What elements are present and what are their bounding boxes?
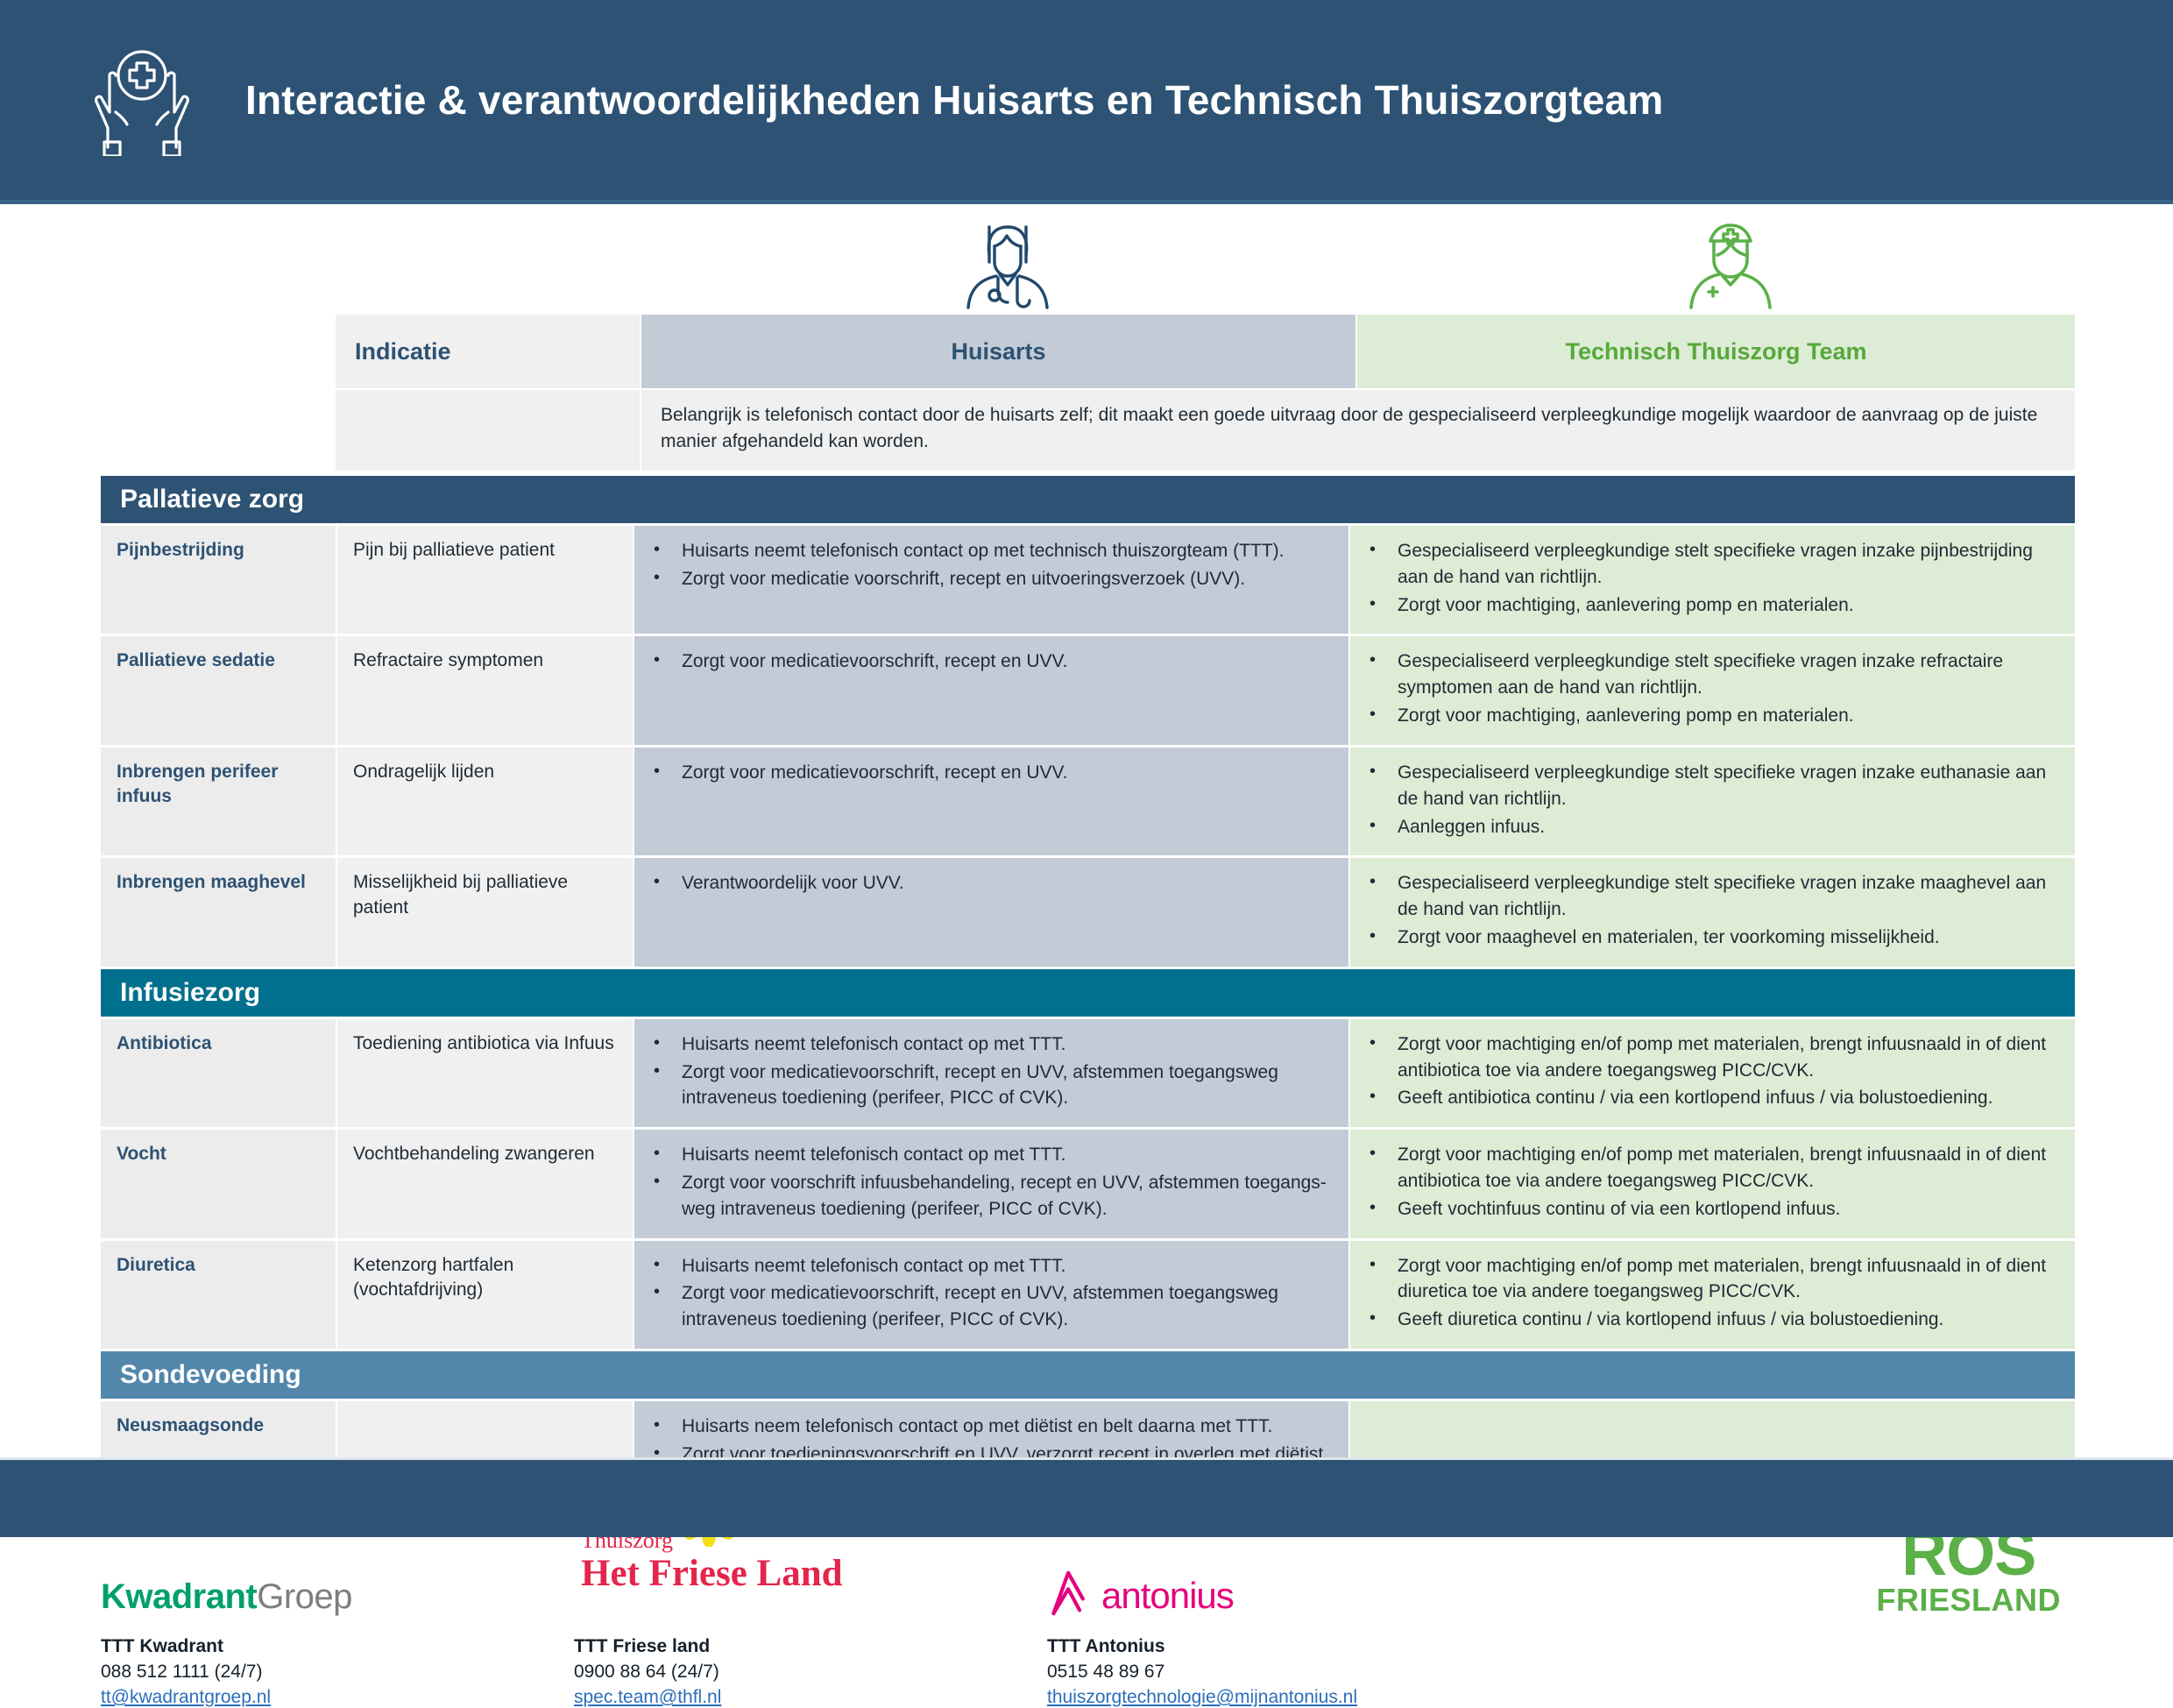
table-row: Inbrengen perifeer infuusOndragelijk lij… (101, 748, 2075, 855)
row-ttt-cell: Zorgt voor machtiging en/of pomp met mat… (1350, 1019, 2075, 1127)
row-indicatie-cell: Refractaire symptomen (337, 636, 633, 744)
bullet-list: Gespecialiseerd verpleegkundige stelt sp… (1366, 760, 2059, 840)
bullet-item: Gespecialiseerd verpleegkundige stelt sp… (1366, 760, 2059, 812)
column-header-indicatie: Indicatie (336, 315, 640, 388)
bullet-item: Geeft diuretica continu / via kortlopend… (1366, 1307, 2059, 1333)
antonius-mark-icon (1047, 1568, 1093, 1617)
bullet-list: Gespecialiseerd verpleegkundige stelt sp… (1366, 538, 2059, 618)
row-huisarts-cell: Zorgt voor medicatievoorschrift, recept … (634, 636, 1348, 744)
bullet-item: Aanleggen infuus. (1366, 814, 2059, 840)
bullet-item: Huisarts neem telefonisch contact op met… (650, 1414, 1333, 1440)
provider-email-link[interactable]: spec.team@thfl.nl (574, 1687, 721, 1708)
table-note-text: Belangrijk is telefonisch contact door d… (641, 390, 2075, 471)
table-row: Inbrengen maaghevelMisselijkheid bij pal… (101, 858, 2075, 966)
provider-name: TTT Kwadrant (101, 1636, 352, 1657)
section-header: Sondevoeding (101, 1351, 2075, 1399)
bullet-list: Gespecialiseerd verpleegkundige stelt sp… (1366, 870, 2059, 950)
row-ttt-cell: Zorgt voor machtiging en/of pomp met mat… (1350, 1130, 2075, 1237)
provider-name: TTT Friese land (574, 1636, 863, 1657)
column-header-huisarts-label: Huisarts (951, 338, 1045, 365)
bullet-item: Zorgt voor machtiging, aanlevering pomp … (1366, 703, 2059, 729)
page-title: Interactie & verantwoordelijkheden Huisa… (245, 77, 1663, 124)
row-indicatie-cell: Vochtbehandeling zwangeren (337, 1130, 633, 1237)
bullet-item: Gespecialiseerd verpleegkundige stelt sp… (1366, 538, 2059, 591)
bullet-item: Zorgt voor voorschrift infuusbehandeling… (650, 1170, 1333, 1223)
provider-antonius: antonius TTT Antonius 0515 48 89 67 thui… (1047, 1533, 1357, 1708)
bullet-item: Gespecialiseerd verpleegkundige stelt sp… (1366, 870, 2059, 923)
hfl-logo-main: Het Friese Land (581, 1552, 843, 1595)
bullet-list: Zorgt voor machtiging en/of pomp met mat… (1366, 1253, 2059, 1333)
row-indicatie-cell: Ondragelijk lijden (337, 748, 633, 855)
row-ttt-cell: Gespecialiseerd verpleegkundige stelt sp… (1350, 748, 2075, 855)
row-key-cell: Diuretica (101, 1241, 336, 1349)
antonius-logo: antonius (1047, 1533, 1357, 1617)
provider-kwadrantgroep: KwadrantGroep TTT Kwadrant 088 512 1111 … (101, 1533, 352, 1708)
column-header-ttt: Technisch Thuiszorg Team (1357, 315, 2075, 388)
column-header-ttt-label: Technisch Thuiszorg Team (1565, 338, 1866, 365)
row-key-cell: Pijnbestrijding (101, 526, 336, 634)
column-header-indicatie-label: Indicatie (355, 338, 451, 365)
bullet-item: Zorgt voor machtiging en/of pomp met mat… (1366, 1031, 2059, 1084)
bullet-item: Geeft antibiotica continu / via een kort… (1366, 1085, 2059, 1111)
bullet-item: Verantwoordelijk voor UVV. (650, 870, 1333, 897)
row-key-cell: Inbrengen maaghevel (101, 858, 336, 966)
responsibility-table: Pallatieve zorgPijnbestrijdingPijn bij p… (101, 476, 2075, 1513)
row-ttt-cell: Zorgt voor machtiging en/of pomp met mat… (1350, 1241, 2075, 1349)
kwadrant-logo-part2: Groep (257, 1577, 352, 1616)
table-row: PijnbestrijdingPijn bij palliatieve pati… (101, 526, 2075, 634)
row-huisarts-cell: Huisarts neemt telefonisch contact op me… (634, 526, 1348, 634)
table-column-header-row: Indicatie Huisarts Technisch Thuiszorg T… (336, 315, 2075, 388)
bullet-list: Zorgt voor machtiging en/of pomp met mat… (1366, 1031, 2059, 1111)
table-row: Palliatieve sedatieRefractaire symptomen… (101, 636, 2075, 744)
female-doctor-stethoscope-icon (959, 220, 1066, 318)
row-indicatie-cell: Toediening antibiotica via Infuus (337, 1019, 633, 1127)
row-indicatie-cell: Misselijkheid bij palliatieve patient (337, 858, 633, 966)
bullet-list: Gespecialiseerd verpleegkundige stelt sp… (1366, 648, 2059, 728)
bullet-list: Huisarts neemt telefonisch contact op me… (650, 1142, 1333, 1222)
row-huisarts-cell: Verantwoordelijk voor UVV. (634, 858, 1348, 966)
section-header: Pallatieve zorg (101, 476, 2075, 523)
bullet-list: Zorgt voor machtiging en/of pomp met mat… (1366, 1142, 2059, 1222)
bullet-item: Zorgt voor machtiging en/of pomp met mat… (1366, 1253, 2059, 1306)
bullet-item: Huisarts neemt telefonisch contact op me… (650, 1031, 1333, 1058)
content-sheet: Indicatie Huisarts Technisch Thuiszorg T… (0, 204, 2173, 1457)
note-spacer (336, 390, 640, 471)
bullet-item: Zorgt voor medicatievoorschrift, recept … (650, 1060, 1333, 1112)
provider-het-friese-land: Thuiszorg Het Friese Land TTT Friese lan… (574, 1533, 863, 1708)
row-indicatie-cell: Pijn bij palliatieve patient (337, 526, 633, 634)
nurse-cap-cross-icon (1682, 220, 1789, 318)
bullet-item: Zorgt voor medicatievoorschrift, recept … (650, 760, 1333, 786)
provider-email-link[interactable]: thuiszorgtechnologie@mijnantonius.nl (1047, 1687, 1357, 1708)
row-ttt-cell: Gespecialiseerd verpleegkundige stelt sp… (1350, 636, 2075, 744)
provider-email-link[interactable]: tt@kwadrantgroep.nl (101, 1687, 271, 1708)
row-key-cell: Antibiotica (101, 1019, 336, 1127)
row-indicatie-cell: Ketenzorg hartfalen (vochtafdrijving) (337, 1241, 633, 1349)
het-friese-land-flower-logo: Thuiszorg Het Friese Land (574, 1533, 863, 1617)
page-foot-band (0, 1460, 2173, 1537)
bullet-item: Huisarts neemt telefonisch contact op me… (650, 1142, 1333, 1168)
provider-phone: 0515 48 89 67 (1047, 1662, 1357, 1683)
column-header-huisarts: Huisarts (641, 315, 1355, 388)
bullet-list: Zorgt voor medicatievoorschrift, recept … (650, 760, 1333, 786)
bullet-item: Zorgt voor medicatievoorschrift, recept … (650, 648, 1333, 675)
bullet-item: Huisarts neemt telefonisch contact op me… (650, 1253, 1333, 1279)
kwadrant-logo-part1: Kwadrant (101, 1577, 257, 1616)
bullet-item: Zorgt voor maaghevel en materialen, ter … (1366, 925, 2059, 951)
bullet-list: Zorgt voor medicatievoorschrift, recept … (650, 648, 1333, 675)
provider-phone: 0900 88 64 (24/7) (574, 1662, 863, 1683)
row-ttt-cell: Gespecialiseerd verpleegkundige stelt sp… (1350, 526, 2075, 634)
ros-logo-bottom: FRIESLAND (1877, 1582, 2062, 1619)
bullet-item: Zorgt voor machtiging, aanlevering pomp … (1366, 592, 2059, 619)
table-row: AntibioticaToediening antibiotica via In… (101, 1019, 2075, 1127)
table-row: DiureticaKetenzorg hartfalen (vochtafdri… (101, 1241, 2075, 1349)
bullet-item: Zorgt voor medicatievoorschrift, recept … (650, 1280, 1333, 1333)
row-huisarts-cell: Zorgt voor medicatievoorschrift, recept … (634, 748, 1348, 855)
bullet-item: Geeft vochtinfuus continu of via een kor… (1366, 1196, 2059, 1223)
ros-friesland-logo: ROS FRIESLAND (1877, 1527, 2062, 1619)
row-key-cell: Vocht (101, 1130, 336, 1237)
bullet-list: Huisarts neemt telefonisch contact op me… (650, 1253, 1333, 1333)
row-key-cell: Palliatieve sedatie (101, 636, 336, 744)
bullet-item: Zorgt voor medicatie voorschrift, recept… (650, 566, 1333, 592)
row-huisarts-cell: Huisarts neemt telefonisch contact op me… (634, 1019, 1348, 1127)
bullet-list: Huisarts neemt telefonisch contact op me… (650, 538, 1333, 592)
row-huisarts-cell: Huisarts neemt telefonisch contact op me… (634, 1130, 1348, 1237)
row-key-cell: Inbrengen perifeer infuus (101, 748, 336, 855)
provider-name: TTT Antonius (1047, 1636, 1357, 1657)
bullet-item: Zorgt voor machtiging en/of pomp met mat… (1366, 1142, 2059, 1194)
bullet-list: Huisarts neemt telefonisch contact op me… (650, 1031, 1333, 1111)
row-ttt-cell: Gespecialiseerd verpleegkundige stelt sp… (1350, 858, 2075, 966)
bullet-item: Huisarts neemt telefonisch contact op me… (650, 538, 1333, 564)
table-row: VochtVochtbehandeling zwangerenHuisarts … (101, 1130, 2075, 1237)
page-banner: Interactie & verantwoordelijkheden Huisa… (0, 0, 2173, 200)
provider-phone: 088 512 1111 (24/7) (101, 1662, 352, 1683)
bullet-item: Gespecialiseerd verpleegkundige stelt sp… (1366, 648, 2059, 701)
section-header: Infusiezorg (101, 969, 2075, 1017)
kwadrantgroep-logo: KwadrantGroep (101, 1533, 352, 1617)
bullet-list: Verantwoordelijk voor UVV. (650, 870, 1333, 897)
table-note-row: Belangrijk is telefonisch contact door d… (336, 390, 2075, 471)
row-huisarts-cell: Huisarts neemt telefonisch contact op me… (634, 1241, 1348, 1349)
antonius-wordmark: antonius (1101, 1575, 1234, 1617)
hands-holding-medical-cross-icon (84, 39, 200, 161)
